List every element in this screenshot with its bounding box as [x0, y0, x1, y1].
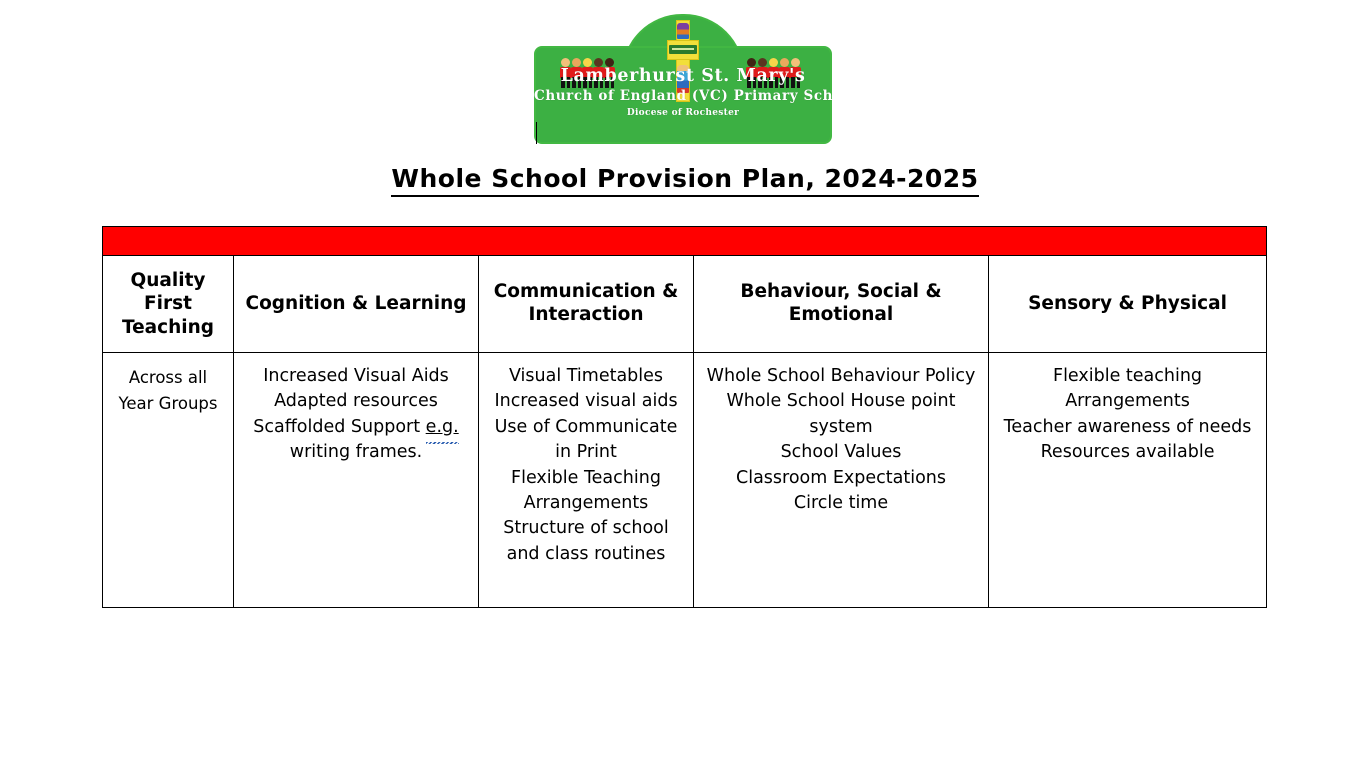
cell-sensory-physical: Flexible teaching Arrangements Teacher a…: [989, 353, 1267, 608]
cell-line: Year Groups: [110, 391, 226, 417]
cell-line: Across all: [110, 365, 226, 391]
cell-line: Structure of school and class routines: [486, 516, 686, 567]
cell-line-scaffolded-support: Scaffolded Support e.g. writing frames.: [241, 415, 471, 466]
table-row: Across all Year Groups Increased Visual …: [103, 353, 1267, 608]
cell-line: School Values: [701, 440, 981, 465]
writing-frames-text: writing frames.: [290, 442, 422, 462]
provision-plan-table: Quality First Teaching Cognition & Learn…: [102, 226, 1267, 608]
page-title: Whole School Provision Plan, 2024-2025: [0, 164, 1370, 193]
cell-line: Use of Communicate in Print: [486, 415, 686, 466]
table-header-row: Quality First Teaching Cognition & Learn…: [103, 256, 1267, 353]
cell-quality-first-teaching: Across all Year Groups: [103, 353, 234, 608]
cell-line: Teacher awareness of needs: [996, 415, 1259, 440]
cell-line: Flexible Teaching Arrangements: [486, 466, 686, 517]
scaffolded-support-text: Scaffolded Support: [253, 417, 425, 437]
cell-line: Flexible teaching Arrangements: [996, 364, 1259, 415]
cell-line: Circle time: [701, 491, 981, 516]
column-header-cognition-learning: Cognition & Learning: [234, 256, 479, 353]
school-logo: Lamberhurst St. Mary's Church of England…: [534, 14, 832, 144]
spellcheck-flagged-text[interactable]: e.g.: [426, 415, 459, 440]
logo-diocese: Diocese of Rochester: [534, 108, 832, 118]
column-header-communication-interaction: Communication & Interaction: [479, 256, 694, 353]
cell-line: Adapted resources: [241, 389, 471, 414]
cell-line: Classroom Expectations: [701, 466, 981, 491]
cell-line: Whole School House point system: [701, 389, 981, 440]
logo-school-subtitle: Church of England (VC) Primary School: [534, 88, 832, 104]
column-header-quality-first-teaching: Quality First Teaching: [103, 256, 234, 353]
cell-behaviour-social-emotional: Whole School Behaviour Policy Whole Scho…: [694, 353, 989, 608]
cell-line: Visual Timetables: [486, 364, 686, 389]
cell-line: Increased visual aids: [486, 389, 686, 414]
logo-school-name: Lamberhurst St. Mary's: [534, 66, 832, 86]
column-header-behaviour-social-emotional: Behaviour, Social & Emotional: [694, 256, 989, 353]
cell-communication-interaction: Visual Timetables Increased visual aids …: [479, 353, 694, 608]
cell-cognition-learning: Increased Visual Aids Adapted resources …: [234, 353, 479, 608]
cell-line: Resources available: [996, 440, 1259, 465]
cell-line: Whole School Behaviour Policy: [701, 364, 981, 389]
column-header-sensory-physical: Sensory & Physical: [989, 256, 1267, 353]
red-band-cell: [103, 227, 1267, 256]
text-cursor-artifact: [536, 122, 537, 144]
logo-contents: Lamberhurst St. Mary's Church of England…: [534, 14, 832, 144]
cell-line: Increased Visual Aids: [241, 364, 471, 389]
page-title-text: Whole School Provision Plan, 2024-2025: [391, 164, 978, 197]
table-red-band-row: [103, 227, 1267, 256]
